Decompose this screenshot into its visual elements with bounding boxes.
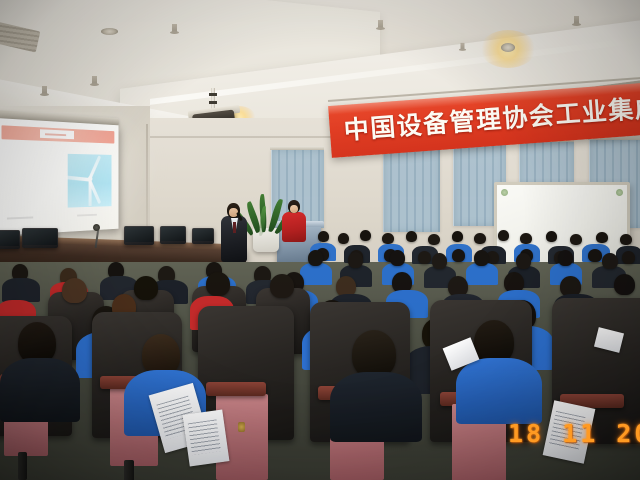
audience-head xyxy=(432,253,447,269)
audience-head xyxy=(516,253,531,269)
audience-shoulders-blue-foreground xyxy=(456,358,542,424)
desk-monitor[interactable] xyxy=(160,226,186,244)
audience-head xyxy=(474,250,489,266)
sprinkler-head-icon xyxy=(574,16,579,25)
audience-shoulders-foreground xyxy=(0,358,80,422)
audience-head xyxy=(498,230,509,241)
audience-head xyxy=(428,234,440,245)
projection-screen xyxy=(0,118,119,236)
audience-head xyxy=(270,274,294,298)
audience-head xyxy=(338,233,349,244)
desk-monitor[interactable] xyxy=(22,228,58,248)
audience-head xyxy=(520,233,532,244)
audience-head xyxy=(382,233,394,244)
audience-shoulders xyxy=(2,278,40,302)
audience-head xyxy=(390,250,405,266)
audience-head xyxy=(62,278,87,303)
sprinkler-head-icon xyxy=(378,20,383,29)
audience-head xyxy=(360,230,371,241)
paper-text-lines xyxy=(188,420,221,455)
audience-head xyxy=(614,274,635,295)
presenter-host-body xyxy=(282,212,306,242)
projected-slide xyxy=(0,118,119,236)
slide-text-line xyxy=(7,216,33,219)
sprinkler-head-icon xyxy=(461,43,465,50)
sprinkler-head-icon xyxy=(42,86,47,95)
desk-monitor[interactable] xyxy=(0,230,20,249)
desk-monitor[interactable] xyxy=(124,226,154,245)
sprinkler-head-icon xyxy=(172,24,177,33)
audience-head xyxy=(418,251,431,264)
audience-head xyxy=(308,250,323,266)
seat-armrest[interactable] xyxy=(206,382,266,396)
audience-head xyxy=(452,249,465,262)
audience-head xyxy=(206,272,230,296)
audience-head xyxy=(348,252,363,268)
whiteboard-corner xyxy=(501,189,508,196)
audience-head xyxy=(474,233,486,244)
audience-head xyxy=(558,250,573,266)
audience-head xyxy=(588,249,602,262)
audience-shoulders-blue xyxy=(300,263,332,285)
audience-head xyxy=(602,253,618,269)
audience-head xyxy=(622,251,635,264)
audience-head xyxy=(546,231,557,242)
turbine-hub xyxy=(88,176,93,181)
seat-emblem xyxy=(238,422,245,432)
seat-leg xyxy=(124,460,134,480)
desk-monitor[interactable] xyxy=(192,228,214,244)
audience-head xyxy=(620,234,632,245)
slide-header-inset xyxy=(40,129,74,139)
camera-timestamp: 18 11 2014 xyxy=(508,419,640,448)
audience-shoulders-blue xyxy=(466,263,498,285)
audience-head xyxy=(570,234,582,245)
audience-head xyxy=(596,232,608,243)
presenter-host-face xyxy=(290,205,298,213)
ceiling-light-fixture xyxy=(501,43,515,52)
whiteboard-corner xyxy=(616,189,623,196)
slide-text-line xyxy=(77,214,97,217)
presenter-tie xyxy=(233,222,236,233)
seat-leg xyxy=(18,452,27,480)
audience-head xyxy=(406,231,417,242)
audience-shoulders-foreground xyxy=(330,372,422,442)
window-blind[interactable] xyxy=(383,146,440,232)
ceiling-light-icon xyxy=(101,28,118,35)
audience-head xyxy=(318,231,329,242)
conference-photo: 中国设备管理协会工业集成服务 xyxy=(0,0,640,480)
audience-head xyxy=(452,231,463,242)
microphone-icon xyxy=(93,224,100,231)
audience-head xyxy=(134,276,158,300)
audience-head-foreground xyxy=(352,330,396,378)
handout-paper[interactable] xyxy=(183,409,230,466)
sprinkler-head-icon xyxy=(92,76,97,85)
